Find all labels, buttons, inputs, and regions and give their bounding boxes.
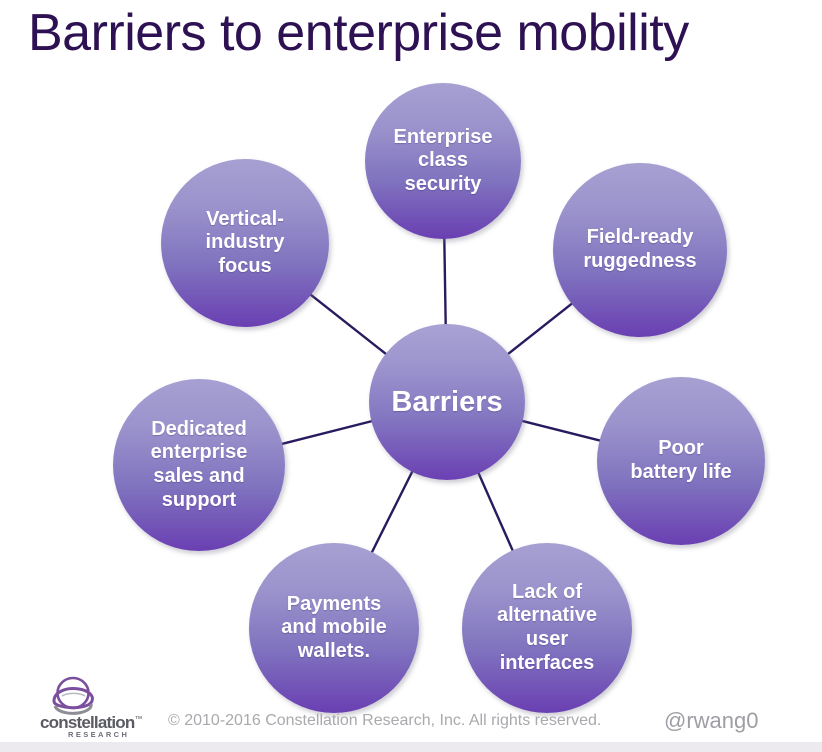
node-label: Poorbattery life [624,437,737,484]
node-label: Field-readyruggedness [577,226,702,273]
edge-center-to-vertical-industry-focus [310,294,386,354]
node-label: Barriers [385,385,508,419]
node-label: Dedicatedenterprisesales andsupport [145,418,254,512]
slide: Barriers to enterprise mobility Enterpri… [0,0,822,752]
constellation-research-logo: constellation™ RESEARCH [40,676,118,740]
trademark-icon: ™ [134,714,141,723]
node-label: Lack ofalternativeuserinterfaces [491,581,603,675]
twitter-handle: @rwang0 [664,708,759,734]
node-payments-and-mobile-wallets[interactable]: Paymentsand mobilewallets. [249,543,419,713]
node-label: Vertical-industryfocus [200,208,291,279]
bottom-strip [0,742,822,752]
edge-center-to-enterprise-class-security [444,238,445,325]
node-label: Enterpriseclasssecurity [388,126,499,197]
globe-icon [46,676,98,718]
node-enterprise-class-security[interactable]: Enterpriseclasssecurity [365,83,521,239]
copyright-notice: © 2010-2016 Constellation Research, Inc.… [168,712,601,730]
node-poor-battery-life[interactable]: Poorbattery life [597,377,765,545]
edge-center-to-payments-and-mobile-wallets [372,471,413,553]
edge-center-to-field-ready-ruggedness [508,303,573,354]
node-label: Paymentsand mobilewallets. [275,593,393,664]
edge-center-to-dedicated-enterprise-sales-and-support [281,421,372,444]
node-lack-of-alternative-user-interfaces[interactable]: Lack ofalternativeuserinterfaces [462,543,632,713]
node-dedicated-enterprise-sales-and-support[interactable]: Dedicatedenterprisesales andsupport [113,379,285,551]
edge-center-to-poor-battery-life [522,421,601,441]
logo-subtitle: RESEARCH [68,731,129,739]
node-field-ready-ruggedness[interactable]: Field-readyruggedness [553,163,727,337]
node-center[interactable]: Barriers [369,324,525,480]
hub-and-spoke-diagram: EnterpriseclasssecurityField-readyrugged… [0,0,822,752]
node-vertical-industry-focus[interactable]: Vertical-industryfocus [161,159,329,327]
edge-center-to-lack-of-alternative-user-interfaces [478,472,513,551]
logo-wordmark: constellation™ [40,714,122,731]
